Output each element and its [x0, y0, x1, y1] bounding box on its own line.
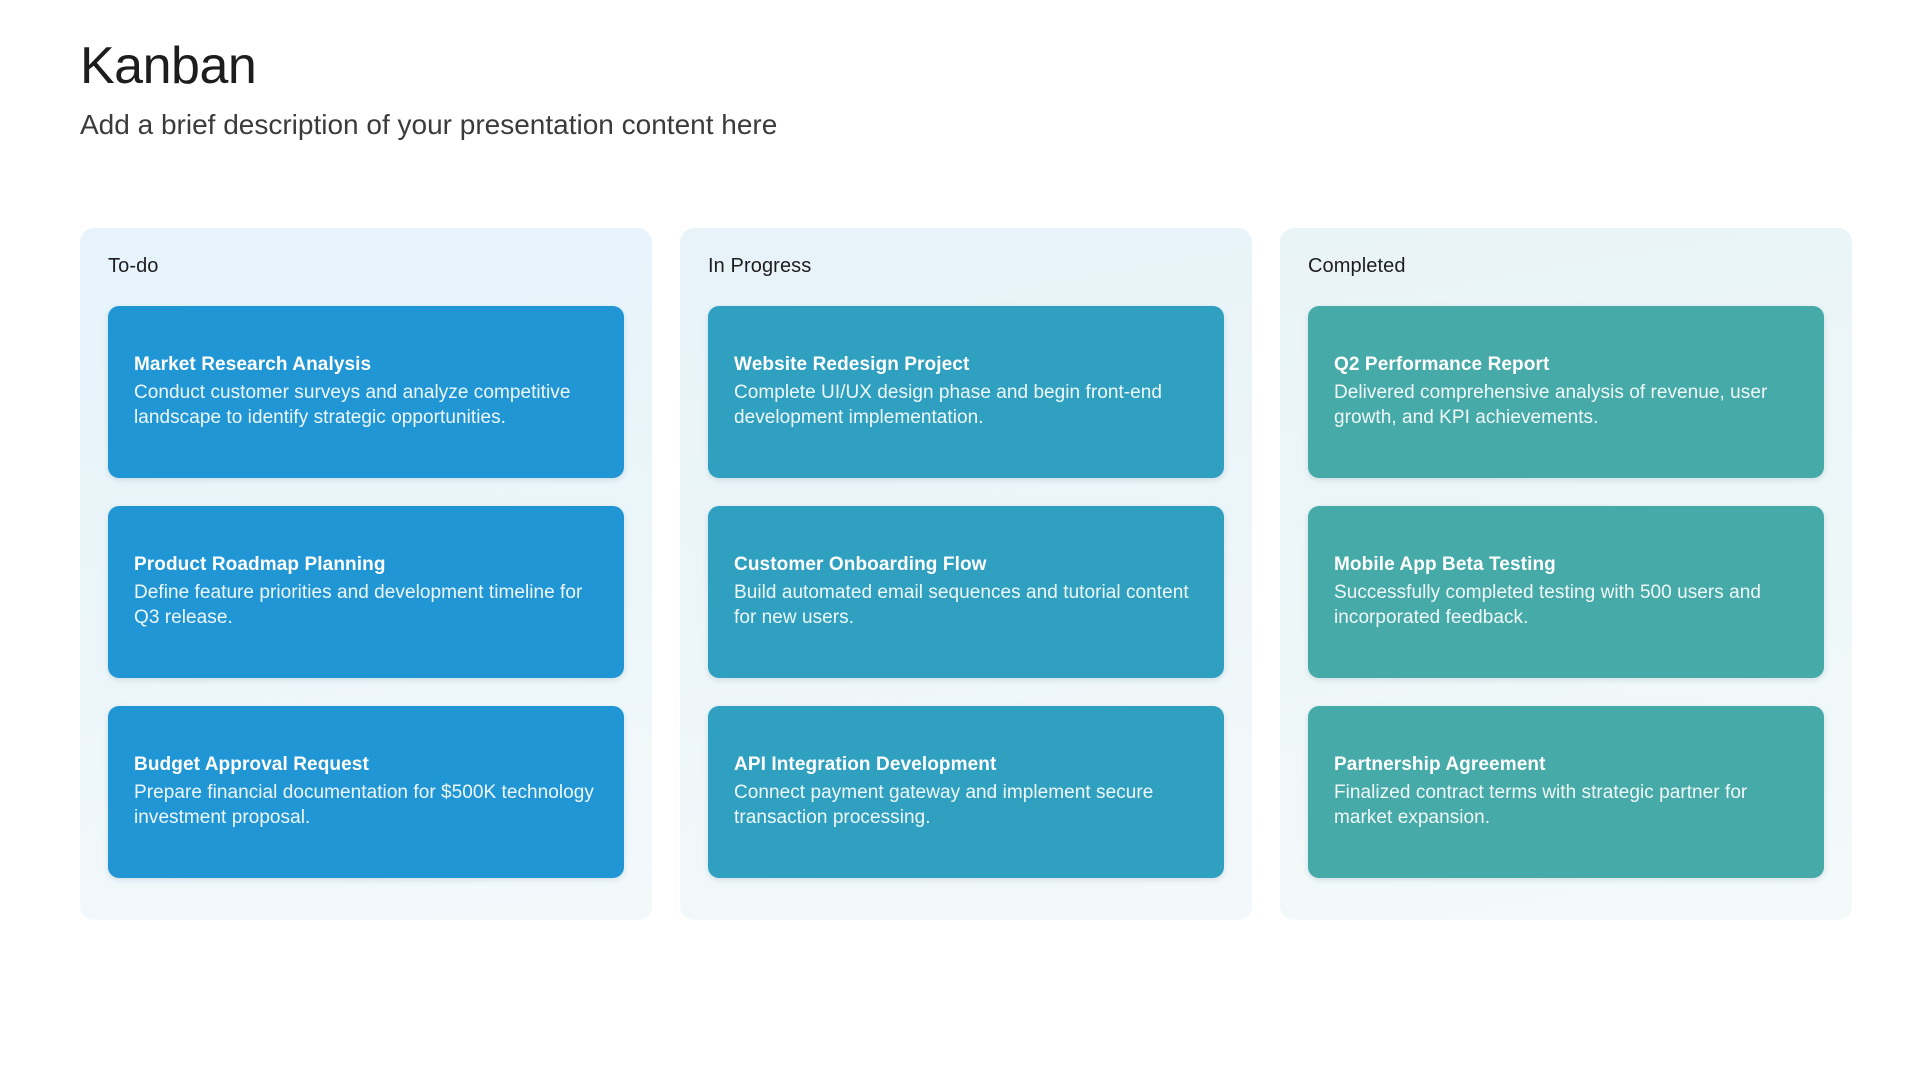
card-title: API Integration Development	[734, 753, 1198, 778]
column-title-todo: To-do	[108, 254, 624, 278]
card-list-completed: Q2 Performance Report Delivered comprehe…	[1308, 306, 1824, 878]
card-description: Define feature priorities and developmen…	[134, 580, 598, 631]
kanban-column-todo[interactable]: To-do Market Research Analysis Conduct c…	[80, 228, 652, 920]
card-description: Delivered comprehensive analysis of reve…	[1334, 380, 1798, 431]
page-title: Kanban	[80, 38, 1780, 94]
kanban-card[interactable]: Product Roadmap Planning Define feature …	[108, 506, 624, 678]
kanban-column-in-progress[interactable]: In Progress Website Redesign Project Com…	[680, 228, 1252, 920]
card-title: Market Research Analysis	[134, 353, 598, 378]
card-list-in-progress: Website Redesign Project Complete UI/UX …	[708, 306, 1224, 878]
kanban-card[interactable]: Customer Onboarding Flow Build automated…	[708, 506, 1224, 678]
slide-header: Kanban Add a brief description of your p…	[80, 38, 1780, 142]
kanban-board: To-do Market Research Analysis Conduct c…	[80, 228, 1852, 920]
kanban-column-completed[interactable]: Completed Q2 Performance Report Delivere…	[1280, 228, 1852, 920]
column-title-completed: Completed	[1308, 254, 1824, 278]
card-description: Complete UI/UX design phase and begin fr…	[734, 380, 1198, 431]
column-title-in-progress: In Progress	[708, 254, 1224, 278]
card-description: Build automated email sequences and tuto…	[734, 580, 1198, 631]
kanban-slide: Kanban Add a brief description of your p…	[0, 0, 1920, 1080]
card-description: Conduct customer surveys and analyze com…	[134, 380, 598, 431]
card-description: Finalized contract terms with strategic …	[1334, 780, 1798, 831]
card-title: Budget Approval Request	[134, 753, 598, 778]
kanban-card[interactable]: Q2 Performance Report Delivered comprehe…	[1308, 306, 1824, 478]
card-title: Q2 Performance Report	[1334, 353, 1798, 378]
kanban-card[interactable]: Partnership Agreement Finalized contract…	[1308, 706, 1824, 878]
kanban-card[interactable]: Mobile App Beta Testing Successfully com…	[1308, 506, 1824, 678]
kanban-card[interactable]: Market Research Analysis Conduct custome…	[108, 306, 624, 478]
card-title: Website Redesign Project	[734, 353, 1198, 378]
card-description: Successfully completed testing with 500 …	[1334, 580, 1798, 631]
kanban-card[interactable]: Website Redesign Project Complete UI/UX …	[708, 306, 1224, 478]
kanban-card[interactable]: Budget Approval Request Prepare financia…	[108, 706, 624, 878]
page-subtitle: Add a brief description of your presenta…	[80, 108, 1780, 142]
card-list-todo: Market Research Analysis Conduct custome…	[108, 306, 624, 878]
card-title: Partnership Agreement	[1334, 753, 1798, 778]
card-title: Product Roadmap Planning	[134, 553, 598, 578]
card-description: Prepare financial documentation for $500…	[134, 780, 598, 831]
kanban-card[interactable]: API Integration Development Connect paym…	[708, 706, 1224, 878]
card-title: Customer Onboarding Flow	[734, 553, 1198, 578]
card-description: Connect payment gateway and implement se…	[734, 780, 1198, 831]
card-title: Mobile App Beta Testing	[1334, 553, 1798, 578]
